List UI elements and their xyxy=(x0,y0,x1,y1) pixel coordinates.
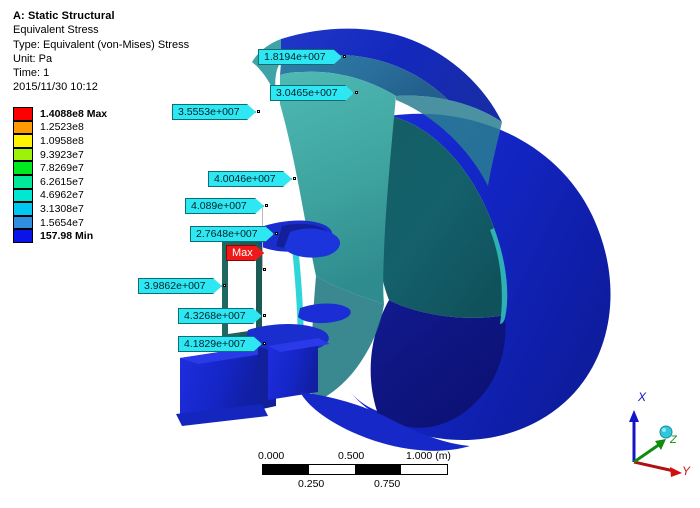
probe-anchor xyxy=(263,342,266,345)
triad-ball-highlight xyxy=(662,428,666,432)
probe-value: 3.0465e+007 xyxy=(276,87,338,99)
legend-value: 3.1308e7 xyxy=(40,203,84,215)
scale-seg xyxy=(355,465,401,474)
legend-row: 157.98 Min xyxy=(13,229,107,243)
fea-result-window: A: Static Structural Equivalent Stress T… xyxy=(0,0,700,508)
legend-value: 1.4088e8 Max xyxy=(40,108,107,120)
probe-value: 2.7648e+007 xyxy=(196,228,258,240)
model-viewport[interactable] xyxy=(0,0,700,508)
probe-label[interactable]: 4.3268e+007 xyxy=(178,308,262,324)
scale-bar-graphic xyxy=(262,464,448,475)
scale-tick-500: 0.500 xyxy=(338,450,364,462)
legend-swatch xyxy=(13,121,33,135)
contour-legend: 1.4088e8 Max 1.2523e8 1.0958e8 9.3923e7 … xyxy=(13,107,107,243)
probe-value: 4.3268e+007 xyxy=(184,310,246,322)
probe-anchor xyxy=(223,284,226,287)
probe-value: 4.1829e+007 xyxy=(184,338,246,350)
probe-value: 3.9862e+007 xyxy=(144,280,206,292)
scale-tick-1000: 1.000 (m) xyxy=(406,450,451,462)
probe-value: 3.5553e+007 xyxy=(178,106,240,118)
triad-y-label: Y xyxy=(682,464,690,478)
probe-value: 1.8194e+007 xyxy=(264,51,326,63)
scale-seg xyxy=(309,465,355,474)
probe-label[interactable]: 3.5553e+007 xyxy=(172,104,256,120)
probe-anchor xyxy=(355,91,358,94)
triad-z-axis xyxy=(634,444,660,462)
legend-swatch xyxy=(13,202,33,216)
legend-swatch xyxy=(13,134,33,148)
probe-label[interactable]: 4.0046e+007 xyxy=(208,171,292,187)
probe-label[interactable]: 2.7648e+007 xyxy=(190,226,274,242)
triad-y-axis xyxy=(634,462,674,471)
legend-value: 7.8269e7 xyxy=(40,162,84,174)
probe-value: 4.089e+007 xyxy=(191,200,247,212)
legend-value: 157.98 Min xyxy=(40,230,93,242)
legend-row: 9.3923e7 xyxy=(13,148,107,162)
legend-row: 4.6962e7 xyxy=(13,189,107,203)
legend-row: 6.2615e7 xyxy=(13,175,107,189)
legend-swatch xyxy=(13,189,33,203)
scale-bar: 0.000 0.500 1.000 (m) 0.250 0.750 xyxy=(262,450,448,488)
legend-swatch xyxy=(13,148,33,162)
legend-row: 3.1308e7 xyxy=(13,202,107,216)
probe-label[interactable]: 4.089e+007 xyxy=(185,198,264,214)
legend-swatch xyxy=(13,175,33,189)
triad-x-arrow xyxy=(629,410,639,422)
legend-value: 6.2615e7 xyxy=(40,176,84,188)
probe-anchor xyxy=(275,232,278,235)
legend-swatch xyxy=(13,107,33,121)
legend-row: 1.0958e8 xyxy=(13,134,107,148)
legend-swatch xyxy=(13,161,33,175)
legend-swatch xyxy=(13,229,33,243)
triad-z-label: Z xyxy=(670,434,677,446)
legend-row: 1.5654e7 xyxy=(13,216,107,230)
scale-seg xyxy=(263,465,309,474)
probe-anchor xyxy=(293,177,296,180)
max-anchor xyxy=(263,268,266,271)
probe-label[interactable]: 1.8194e+007 xyxy=(258,49,342,65)
max-label: Max xyxy=(232,247,253,259)
probe-value: 4.0046e+007 xyxy=(214,173,276,185)
probe-anchor xyxy=(343,55,346,58)
probe-anchor xyxy=(263,314,266,317)
probe-label[interactable]: 3.0465e+007 xyxy=(270,85,354,101)
probe-label[interactable]: 4.1829e+007 xyxy=(178,336,262,352)
probe-anchor xyxy=(265,204,268,207)
axis-triad[interactable]: X Y Z xyxy=(618,392,696,480)
legend-value: 1.0958e8 xyxy=(40,135,84,147)
probe-anchor xyxy=(257,110,260,113)
legend-row: 7.8269e7 xyxy=(13,161,107,175)
legend-value: 1.2523e8 xyxy=(40,121,84,133)
scale-tick-0: 0.000 xyxy=(258,450,284,462)
legend-row: 1.4088e8 Max xyxy=(13,107,107,121)
scale-seg xyxy=(401,465,447,474)
legend-value: 1.5654e7 xyxy=(40,217,84,229)
scale-tick-750: 0.750 xyxy=(374,478,400,490)
legend-row: 1.2523e8 xyxy=(13,121,107,135)
scale-tick-250: 0.250 xyxy=(298,478,324,490)
legend-swatch xyxy=(13,216,33,230)
probe-label[interactable]: 3.9862e+007 xyxy=(138,278,222,294)
triad-x-label: X xyxy=(638,390,646,404)
triad-y-arrow xyxy=(670,467,682,477)
legend-value: 9.3923e7 xyxy=(40,149,84,161)
legend-value: 4.6962e7 xyxy=(40,189,84,201)
